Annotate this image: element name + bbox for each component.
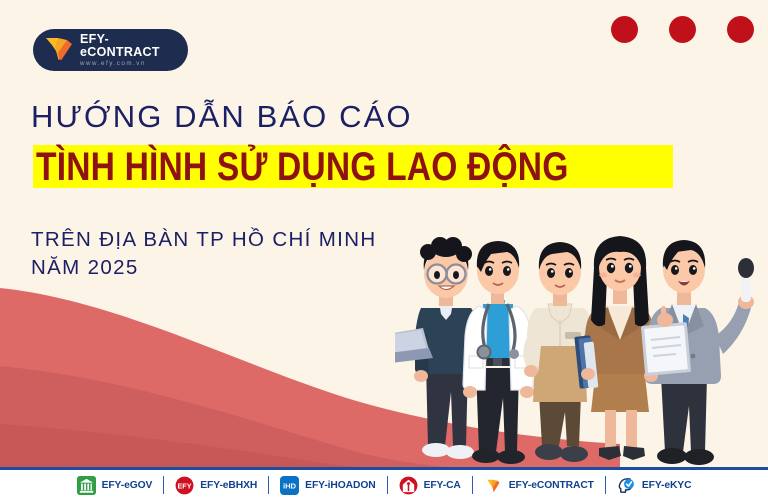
footer-item-efy-ihoadon[interactable]: iHD EFY-iHOADON — [280, 470, 375, 500]
ihd-square-icon: iHD — [280, 476, 299, 495]
heading-line-1: HƯỚNG DẪN BÁO CÁO — [31, 99, 413, 135]
group-of-five-workers-illustration — [395, 216, 768, 474]
footer-item-efy-ca[interactable]: EFY-CA — [399, 470, 461, 500]
footer-separator — [387, 476, 388, 494]
svg-text:EFY: EFY — [178, 481, 192, 490]
footer-item-efy-ebhxh[interactable]: EFY EFY-eBHXH — [175, 470, 257, 500]
logo-name: EFY-eCONTRACT — [80, 33, 188, 58]
footer-item-efy-ekyc[interactable]: EFY-eKYC — [617, 470, 692, 500]
efy-econtract-logo: EFY-eCONTRACT www.efy.com.vn — [33, 29, 188, 71]
footer-separator — [605, 476, 606, 494]
bank-building-icon — [77, 476, 96, 495]
heading-line-3: TRÊN ĐỊA BÀN TP HỒ CHÍ MINH — [31, 228, 377, 252]
footer-label: EFY-iHOADON — [305, 480, 375, 491]
ca-shield-icon — [399, 476, 418, 495]
footer-label: EFY-eGOV — [102, 480, 153, 491]
dot-1 — [611, 16, 638, 43]
footer-separator — [268, 476, 269, 494]
poster-canvas: EFY-eCONTRACT www.efy.com.vn HƯỚNG DẪN B… — [0, 0, 768, 500]
efy-circle-icon: EFY — [175, 476, 194, 495]
svg-text:iHD: iHD — [283, 481, 297, 490]
dot-3 — [727, 16, 754, 43]
logo-url: www.efy.com.vn — [80, 61, 188, 67]
heading-highlight-text: TÌNH HÌNH SỬ DỤNG LAO ĐỘNG — [36, 147, 569, 187]
footer-label: EFY-eCONTRACT — [509, 480, 594, 491]
efy-v-mark-icon — [43, 35, 77, 65]
footer-separator — [163, 476, 164, 494]
footer-item-efy-econtract[interactable]: EFY-eCONTRACT — [484, 470, 594, 500]
dot-2 — [669, 16, 696, 43]
person-reporter-icon — [641, 240, 754, 465]
footer-separator — [472, 476, 473, 494]
footer-label: EFY-CA — [424, 480, 461, 491]
heading-line-4: NĂM 2025 — [31, 256, 139, 280]
heading-highlight-band: TÌNH HÌNH SỬ DỤNG LAO ĐỘNG — [33, 145, 673, 188]
footer-label: EFY-eKYC — [642, 480, 692, 491]
face-check-icon — [617, 476, 636, 495]
product-footer-bar: EFY-eGOV EFY EFY-eBHXH iHD EFY-iHOADON — [0, 467, 768, 500]
footer-label: EFY-eBHXH — [200, 480, 257, 491]
decorative-dots — [611, 16, 768, 44]
footer-item-efy-egov[interactable]: EFY-eGOV — [77, 470, 153, 500]
efy-v-mark-icon — [484, 476, 503, 495]
